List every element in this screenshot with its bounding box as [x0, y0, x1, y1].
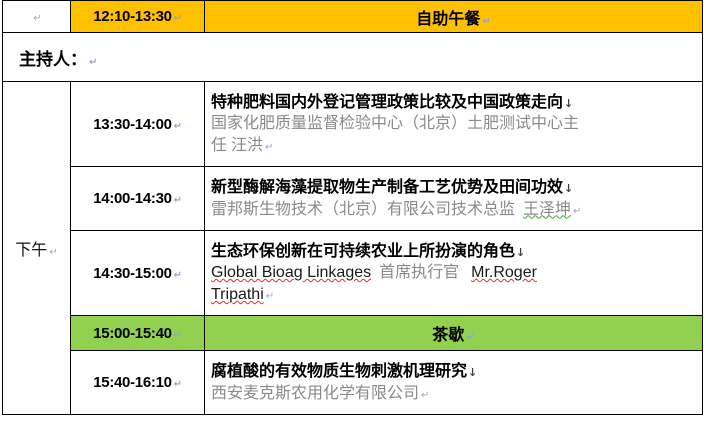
soft-return-mark-icon: ↓ — [564, 182, 573, 195]
item-4-speaker-line-1: 西安麦克斯农用化学有限公司↵ — [211, 383, 696, 405]
lunch-time-value: 12:10-13:30 — [93, 8, 171, 25]
item-3-speaker-line-2: Tripathi↵ — [211, 284, 696, 306]
item-3-speaker-person-cont-text: Tripathi — [211, 286, 264, 303]
lunch-time-text: 12:10-13:30↵ — [71, 5, 204, 28]
item-3-speaker-role-text: 首席执行官 — [379, 264, 459, 281]
item-2-time-text: 14:00-14:30↵ — [71, 187, 204, 210]
lunch-session-text: ↵ — [3, 5, 70, 29]
item-4-topic-cell: 腐植酸的有效物质生物刺激机理研究↓ 西安麦克斯农用化学有限公司↵ — [205, 351, 703, 415]
host-cell: 主持人：↵ — [3, 33, 703, 82]
lunch-label-cell: 自助午餐↵ — [205, 1, 703, 33]
paragraph-mark-icon: ↵ — [174, 330, 182, 341]
paragraph-mark-icon: ↵ — [174, 270, 182, 281]
item-3-topic-inner: 生态环保创新在可持续农业上所扮演的角色↓ Global Bioag Linkag… — [205, 238, 702, 309]
table-row-item-3: 14:30-15:00↵ 生态环保创新在可持续农业上所扮演的角色↓ Global… — [3, 231, 703, 316]
item-3-title-text: 生态环保创新在可持续农业上所扮演的角色 — [211, 243, 515, 260]
table-row-host: 主持人：↵ — [3, 33, 703, 82]
table-row-tea-break: 15:00-15:40↵ 茶歇↵ — [3, 316, 703, 351]
afternoon-session-text: 下午↵ — [3, 236, 70, 260]
item-1-title-text: 特种肥料国内外登记管理政策比较及中国政策走向 — [211, 94, 563, 111]
table-row-lunch: ↵ 12:10-13:30↵ 自助午餐↵ — [3, 1, 703, 33]
tea-break-time-value: 15:00-15:40 — [93, 325, 171, 342]
conference-agenda-table: ↵ 12:10-13:30↵ 自助午餐↵ 主 — [2, 0, 703, 415]
paragraph-mark-icon: ↵ — [573, 206, 581, 217]
paragraph-mark-icon: ↵ — [174, 13, 182, 24]
paragraph-mark-icon: ↵ — [421, 390, 429, 401]
item-2-time-value: 14:00-14:30 — [93, 190, 171, 207]
paragraph-mark-icon: ↵ — [174, 379, 182, 390]
lunch-label-text: 自助午餐↵ — [205, 2, 702, 32]
item-3-title: 生态环保创新在可持续农业上所扮演的角色↓ — [211, 241, 696, 263]
paragraph-mark-icon: ↵ — [265, 142, 273, 153]
item-3-time-cell: 14:30-15:00↵ — [71, 231, 205, 316]
item-1-time-cell: 13:30-14:00↵ — [71, 82, 205, 167]
item-4-topic-inner: 腐植酸的有效物质生物刺激机理研究↓ 西安麦克斯农用化学有限公司↵ — [205, 358, 702, 407]
paragraph-mark-icon: ↵ — [174, 195, 182, 206]
paragraph-mark-icon: ↵ — [33, 13, 41, 24]
item-4-time-text: 15:40-16:10↵ — [71, 371, 204, 394]
soft-return-mark-icon: ↓ — [468, 366, 477, 379]
tea-break-label-value: 茶歇 — [432, 327, 464, 344]
lunch-label-value: 自助午餐 — [416, 11, 480, 28]
item-2-title: 新型酶解海藻提取物生产制备工艺优势及田间功效↓ — [211, 177, 696, 199]
item-3-speaker-line-1: Global Bioag Linkages 首席执行官 Mr.Roger — [211, 262, 696, 284]
afternoon-session-label: 下午 — [15, 242, 47, 259]
table-row-item-2: 14:00-14:30↵ 新型酶解海藻提取物生产制备工艺优势及田间功效↓ 雷邦斯… — [3, 167, 703, 231]
item-4-time-cell: 15:40-16:10↵ — [71, 351, 205, 415]
table-row-item-4: 15:40-16:10↵ 腐植酸的有效物质生物刺激机理研究↓ 西安麦克斯农用化学… — [3, 351, 703, 415]
item-4-time-value: 15:40-16:10 — [93, 374, 171, 391]
tea-break-label-text: 茶歇↵ — [205, 318, 702, 348]
item-1-speaker-line-2-text: 任 汪洪 — [211, 137, 263, 154]
afternoon-session-cell: 下午↵ — [3, 82, 71, 415]
item-2-speaker-org-text: 雷邦斯生物技术（北京）有限公司技术总监 — [211, 201, 515, 218]
paragraph-mark-icon: ↵ — [49, 247, 57, 258]
item-3-topic-cell: 生态环保创新在可持续农业上所扮演的角色↓ Global Bioag Linkag… — [205, 231, 703, 316]
item-3-speaker-org-text: Global Bioag Linkages — [211, 264, 371, 281]
host-label: 主持人： — [19, 50, 87, 69]
table-row-item-1: 下午↵ 13:30-14:00↵ 特种肥料国内外登记管理政策比较及中国政策走向↓… — [3, 82, 703, 167]
item-4-title-text: 腐植酸的有效物质生物刺激机理研究 — [211, 363, 467, 380]
tea-break-label-cell: 茶歇↵ — [205, 316, 703, 351]
item-4-speaker-line-1-text: 西安麦克斯农用化学有限公司 — [211, 385, 419, 402]
item-1-speaker-line-1: 国家化肥质量监督检验中心（北京）土肥测试中心主 — [211, 113, 696, 135]
paragraph-mark-icon: ↵ — [89, 57, 97, 68]
lunch-time-cell: 12:10-13:30↵ — [71, 1, 205, 33]
item-4-title: 腐植酸的有效物质生物刺激机理研究↓ — [211, 361, 696, 383]
item-2-topic-inner: 新型酶解海藻提取物生产制备工艺优势及田间功效↓ 雷邦斯生物技术（北京）有限公司技… — [205, 174, 702, 223]
item-2-time-cell: 14:00-14:30↵ — [71, 167, 205, 231]
lunch-session-cell: ↵ — [3, 1, 71, 33]
item-1-topic-inner: 特种肥料国内外登记管理政策比较及中国政策走向↓ 国家化肥质量监督检验中心（北京）… — [205, 89, 702, 160]
paragraph-mark-icon: ↵ — [174, 121, 182, 132]
host-text: 主持人：↵ — [3, 42, 702, 73]
item-1-speaker-line-2: 任 汪洪↵ — [211, 135, 696, 157]
item-1-title: 特种肥料国内外登记管理政策比较及中国政策走向↓ — [211, 92, 696, 114]
item-1-time-text: 13:30-14:00↵ — [71, 113, 204, 136]
tea-break-time-text: 15:00-15:40↵ — [71, 322, 204, 345]
paragraph-mark-icon: ↵ — [466, 332, 474, 343]
item-2-speaker-name-text: 王泽坤 — [523, 201, 571, 218]
tea-break-time-cell: 15:00-15:40↵ — [71, 316, 205, 351]
item-3-time-text: 14:30-15:00↵ — [71, 262, 204, 285]
item-2-speaker-line-1: 雷邦斯生物技术（北京）有限公司技术总监 王泽坤↵ — [211, 199, 696, 221]
paragraph-mark-icon: ↵ — [266, 291, 274, 302]
soft-return-mark-icon: ↓ — [516, 246, 525, 259]
item-2-topic-cell: 新型酶解海藻提取物生产制备工艺优势及田间功效↓ 雷邦斯生物技术（北京）有限公司技… — [205, 167, 703, 231]
item-3-speaker-person-text: Mr.Roger — [471, 264, 537, 281]
item-1-topic-cell: 特种肥料国内外登记管理政策比较及中国政策走向↓ 国家化肥质量监督检验中心（北京）… — [205, 82, 703, 167]
item-2-title-text: 新型酶解海藻提取物生产制备工艺优势及田间功效 — [211, 179, 563, 196]
soft-return-mark-icon: ↓ — [564, 97, 573, 110]
agenda-table-container: ↵ 12:10-13:30↵ 自助午餐↵ 主 — [0, 0, 706, 440]
item-1-time-value: 13:30-14:00 — [93, 116, 171, 133]
item-1-speaker-line-1-text: 国家化肥质量监督检验中心（北京）土肥测试中心主 — [211, 115, 579, 132]
paragraph-mark-icon: ↵ — [482, 16, 490, 27]
item-3-time-value: 14:30-15:00 — [93, 265, 171, 282]
